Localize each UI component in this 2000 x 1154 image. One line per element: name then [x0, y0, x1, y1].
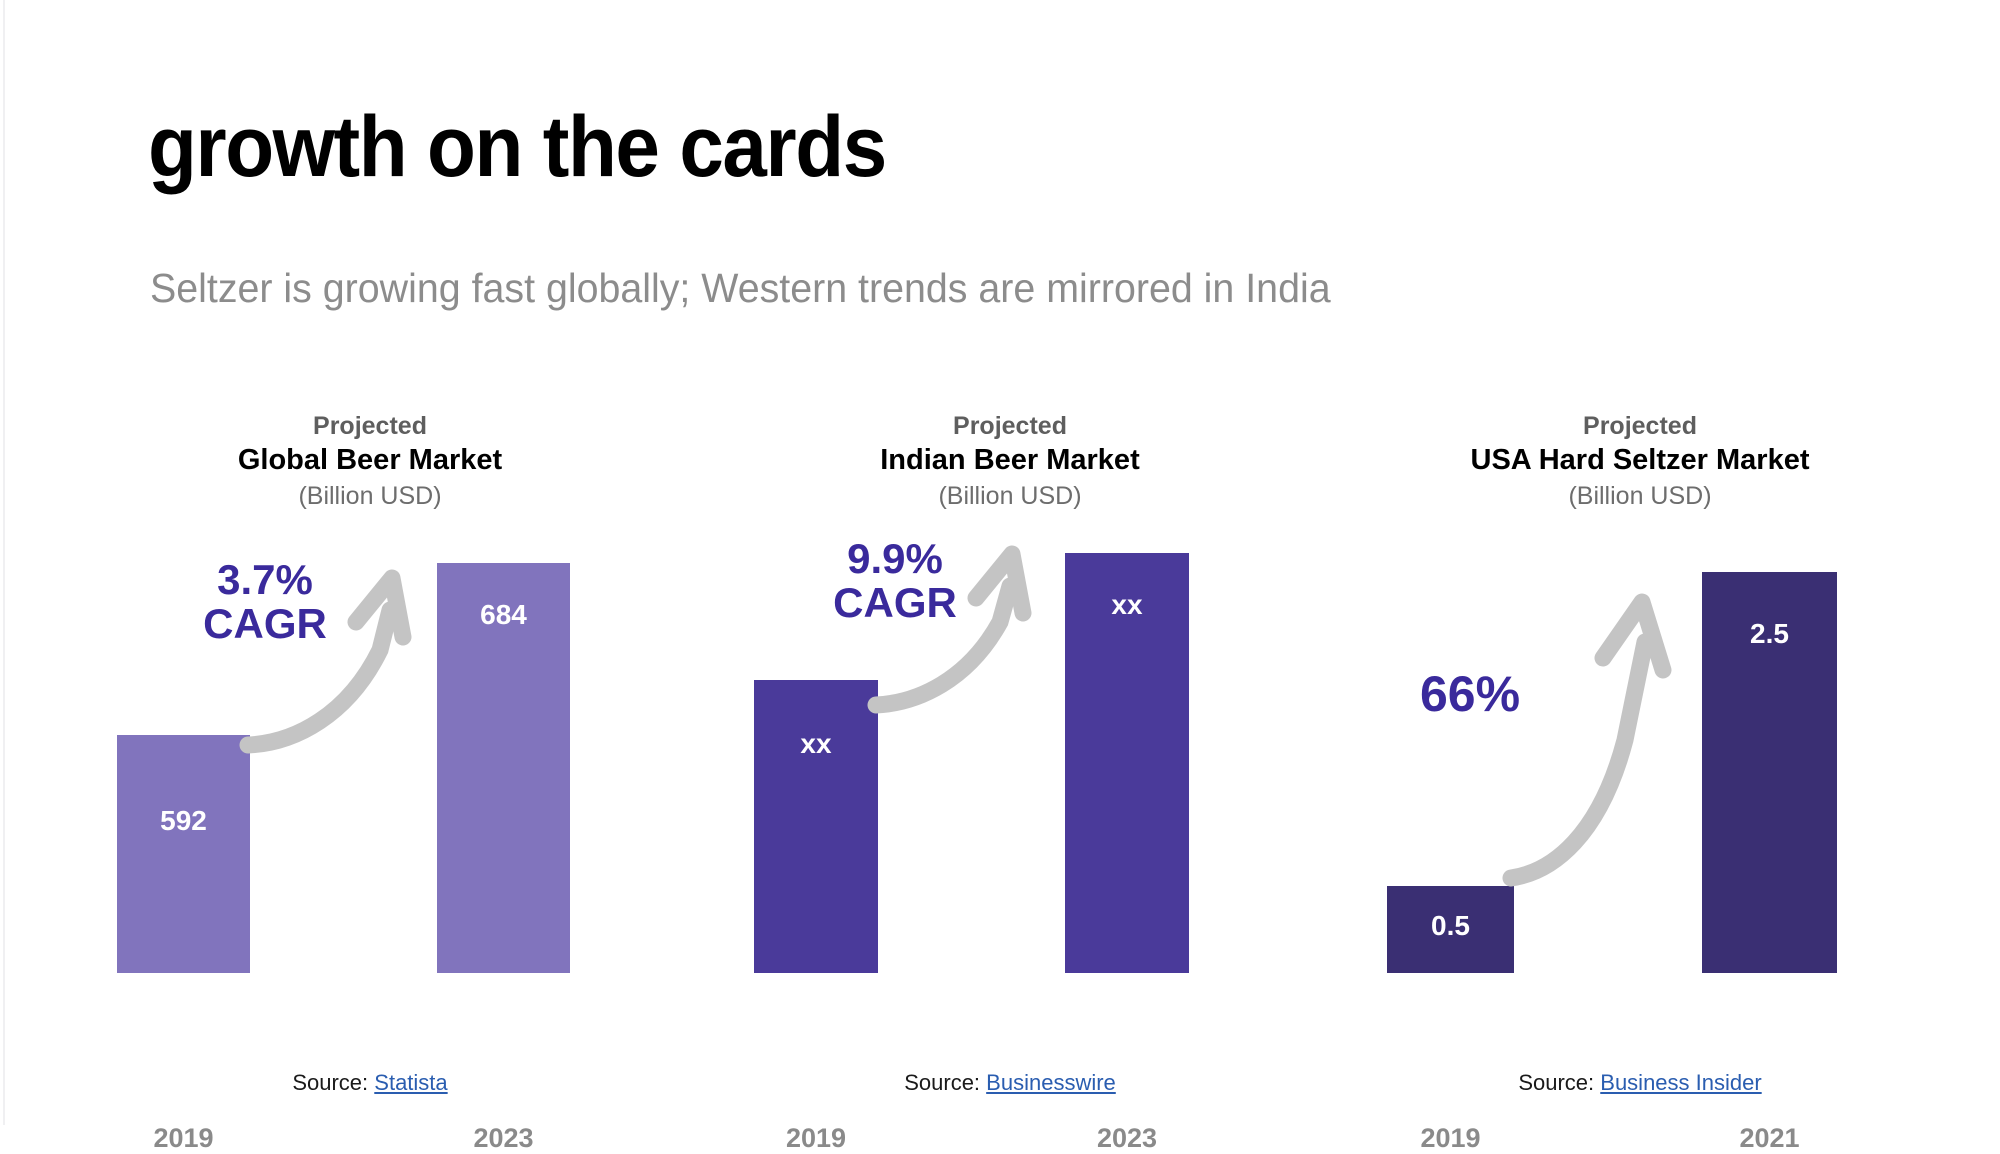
- axis-label-2019: 2019: [1387, 1123, 1514, 1154]
- source-link[interactable]: Businesswire: [986, 1070, 1116, 1095]
- slide-canvas: growth on the cards Seltzer is growing f…: [0, 0, 2000, 1125]
- chart-subtitle: Projected: [1330, 410, 1950, 442]
- axis-label-2019: 2019: [754, 1123, 878, 1154]
- axis-label-2021: 2021: [1702, 1123, 1837, 1154]
- source-prefix: Source:: [292, 1070, 368, 1095]
- chart-panel-global-beer-market: Projected Global Beer Market (Billion US…: [60, 410, 680, 1110]
- source-link[interactable]: Business Insider: [1600, 1070, 1761, 1095]
- bar-2019[interactable]: 592: [117, 735, 250, 973]
- chart-subtitle: Projected: [700, 410, 1320, 442]
- bar-value-label: 684: [437, 599, 570, 631]
- slide-left-rule: [3, 0, 5, 1125]
- chart-units: (Billion USD): [700, 480, 1320, 513]
- source-note: Source: Business Insider: [1330, 1070, 1950, 1096]
- axis-label-2023: 2023: [1065, 1123, 1189, 1154]
- chart-units: (Billion USD): [1330, 480, 1950, 513]
- source-prefix: Source:: [904, 1070, 980, 1095]
- chart-header: Projected Global Beer Market (Billion US…: [60, 410, 680, 512]
- chart-title: Global Beer Market: [60, 442, 680, 480]
- chart-title: Indian Beer Market: [700, 442, 1320, 480]
- source-prefix: Source:: [1518, 1070, 1594, 1095]
- bar-value-label: xx: [1065, 589, 1189, 621]
- chart-units: (Billion USD): [60, 480, 680, 513]
- bar-2021[interactable]: 2.5: [1702, 572, 1837, 973]
- plot-area: 0.5 2.5 66% 2019 2021: [1330, 540, 1950, 973]
- chart-panel-usa-hard-seltzer-market: Projected USA Hard Seltzer Market (Billi…: [1330, 410, 1950, 1110]
- growth-arrow-icon: [1505, 550, 1735, 890]
- plot-area: xx xx 9.9% CAGR 2019 2023: [700, 540, 1320, 973]
- chart-panel-indian-beer-market: Projected Indian Beer Market (Billion US…: [700, 410, 1320, 1110]
- bar-2023[interactable]: xx: [1065, 553, 1189, 973]
- cagr-annotation: 3.7% CAGR: [165, 558, 365, 645]
- plot-area: 592 684 3.7% CAGR 2019 2023: [60, 540, 680, 973]
- bar-2023[interactable]: 684: [437, 563, 570, 973]
- axis-label-2023: 2023: [437, 1123, 570, 1154]
- bar-value-label: 2.5: [1702, 618, 1837, 650]
- source-note: Source: Businesswire: [700, 1070, 1320, 1096]
- bar-value-label: 0.5: [1387, 910, 1514, 942]
- chart-header: Projected Indian Beer Market (Billion US…: [700, 410, 1320, 512]
- chart-subtitle: Projected: [60, 410, 680, 442]
- cagr-annotation: 9.9% CAGR: [795, 537, 995, 624]
- chart-header: Projected USA Hard Seltzer Market (Billi…: [1330, 410, 1950, 512]
- bar-2019[interactable]: 0.5: [1387, 886, 1514, 973]
- bar-2019[interactable]: xx: [754, 680, 878, 973]
- cagr-annotation: 66%: [1365, 668, 1575, 720]
- source-note: Source: Statista: [60, 1070, 680, 1096]
- bar-value-label: 592: [117, 805, 250, 837]
- chart-title: USA Hard Seltzer Market: [1330, 442, 1950, 480]
- axis-label-2019: 2019: [117, 1123, 250, 1154]
- bar-value-label: xx: [754, 728, 878, 760]
- source-link[interactable]: Statista: [374, 1070, 447, 1095]
- page-title: growth on the cards: [148, 104, 886, 190]
- page-subtitle: Seltzer is growing fast globally; Wester…: [150, 268, 1331, 309]
